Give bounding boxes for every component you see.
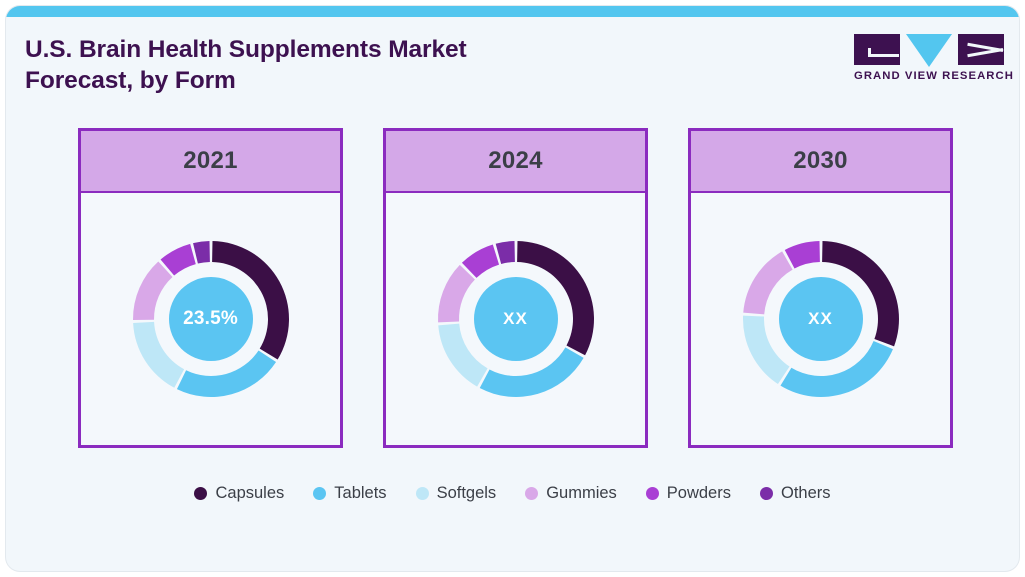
legend-item-softgels[interactable]: Softgels <box>416 484 497 503</box>
legend-item-label: Softgels <box>437 484 497 503</box>
year-label: 2021 <box>183 147 238 175</box>
donut-svg <box>125 233 297 405</box>
year-label: 2030 <box>793 147 848 175</box>
legend-swatch-icon <box>313 487 326 500</box>
page-title-line-2: Forecast, by Form <box>25 65 665 96</box>
legend-swatch-icon <box>194 487 207 500</box>
chart-legend: Capsules Tablets Softgels Gummies Powder… <box>6 484 1019 503</box>
page-title: U.S. Brain Health Supplements Market For… <box>25 34 665 96</box>
logo-wordmark: GRAND VIEW RESEARCH <box>854 70 1004 82</box>
legend-swatch-icon <box>416 487 429 500</box>
year-card-header: 2024 <box>386 131 645 193</box>
legend-swatch-icon <box>646 487 659 500</box>
year-card-header: 2021 <box>81 131 340 193</box>
year-card-body: 23.5% <box>81 193 340 445</box>
legend-swatch-icon <box>525 487 538 500</box>
content-panel: U.S. Brain Health Supplements Market For… <box>6 6 1019 571</box>
logo-triangle-v-icon <box>906 34 952 67</box>
legend-item-label: Capsules <box>215 484 284 503</box>
logo-block-g-icon <box>854 34 900 65</box>
brand-logo: GRAND VIEW RESEARCH <box>854 34 1004 90</box>
year-card-body: XX <box>691 193 950 445</box>
legend-item-label: Others <box>781 484 831 503</box>
year-card-2030: 2030 XX <box>688 128 953 448</box>
donut-segment-powders[interactable] <box>784 241 819 269</box>
page-header: U.S. Brain Health Supplements Market For… <box>6 17 1019 113</box>
year-card-2024: 2024 XX <box>383 128 648 448</box>
donut-chart-2021: 23.5% <box>125 233 297 405</box>
legend-item-gummies[interactable]: Gummies <box>525 484 617 503</box>
logo-mark <box>854 34 1004 68</box>
donut-inner-circle <box>474 277 558 361</box>
donut-svg <box>735 233 907 405</box>
year-card-header: 2030 <box>691 131 950 193</box>
donut-inner-circle <box>779 277 863 361</box>
legend-item-tablets[interactable]: Tablets <box>313 484 386 503</box>
page-title-line-1: U.S. Brain Health Supplements Market <box>25 34 665 65</box>
logo-block-r-icon <box>958 34 1004 65</box>
donut-chart-2030: XX <box>735 233 907 405</box>
year-card-2021: 2021 23.5% <box>78 128 343 448</box>
year-cards-row: 2021 23.5% 2024 XX <box>78 128 953 448</box>
legend-item-powders[interactable]: Powders <box>646 484 731 503</box>
chart-page: U.S. Brain Health Supplements Market For… <box>0 0 1025 577</box>
donut-segment-others[interactable] <box>495 241 514 264</box>
donut-segment-others[interactable] <box>193 241 210 264</box>
year-card-body: XX <box>386 193 645 445</box>
donut-inner-circle <box>169 277 253 361</box>
legend-item-others[interactable]: Others <box>760 484 831 503</box>
donut-segment-gummies[interactable] <box>133 261 172 319</box>
top-accent-bar <box>6 6 1019 17</box>
legend-swatch-icon <box>760 487 773 500</box>
legend-item-label: Powders <box>667 484 731 503</box>
legend-item-label: Tablets <box>334 484 386 503</box>
legend-item-capsules[interactable]: Capsules <box>194 484 284 503</box>
donut-chart-2024: XX <box>430 233 602 405</box>
year-label: 2024 <box>488 147 543 175</box>
donut-segment-gummies[interactable] <box>438 265 475 322</box>
donut-svg <box>430 233 602 405</box>
legend-item-label: Gummies <box>546 484 617 503</box>
